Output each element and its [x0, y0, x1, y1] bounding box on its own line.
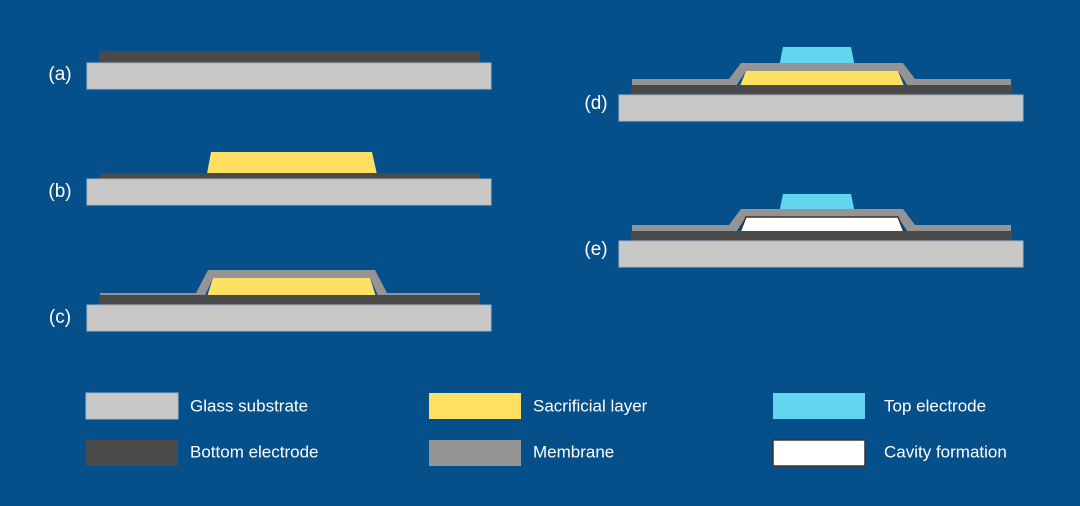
legend-label-sacrificial-layer: Sacrificial layer [533, 396, 648, 415]
legend-swatch-bottom-electrode [86, 440, 178, 466]
legend-item-glass-substrate: Glass substrate [86, 393, 308, 419]
step-e-label: (e) [584, 239, 607, 260]
glass-substrate-layer [619, 241, 1023, 267]
legend-label-cavity-formation: Cavity formation [884, 442, 1007, 461]
legend-item-sacrificial-layer: Sacrificial layer [429, 393, 648, 419]
step-a-diagram [87, 51, 491, 89]
process-flow-figure: (a) (b) (c) (d) (e) Glass substrate [0, 0, 1080, 506]
glass-substrate-layer [87, 179, 491, 205]
glass-substrate-layer [87, 63, 491, 89]
legend-swatch-top-electrode [773, 393, 865, 419]
step-d-label: (d) [584, 93, 607, 114]
glass-substrate-layer [619, 95, 1023, 121]
legend-label-top-electrode: Top electrode [884, 396, 986, 415]
step-b-label: (b) [48, 181, 71, 202]
step-c-label: (c) [49, 307, 71, 328]
legend-label-glass-substrate: Glass substrate [190, 396, 308, 415]
glass-substrate-layer [87, 305, 491, 331]
legend-swatch-glass-substrate [86, 393, 178, 419]
step-a-label: (a) [48, 64, 71, 85]
legend-swatch-cavity-formation [773, 440, 865, 466]
bottom-electrode-layer [99, 51, 480, 63]
legend-label-membrane: Membrane [533, 442, 614, 461]
legend-swatch-membrane [429, 440, 521, 466]
legend-swatch-sacrificial-layer [429, 393, 521, 419]
legend-label-bottom-electrode: Bottom electrode [190, 442, 319, 461]
